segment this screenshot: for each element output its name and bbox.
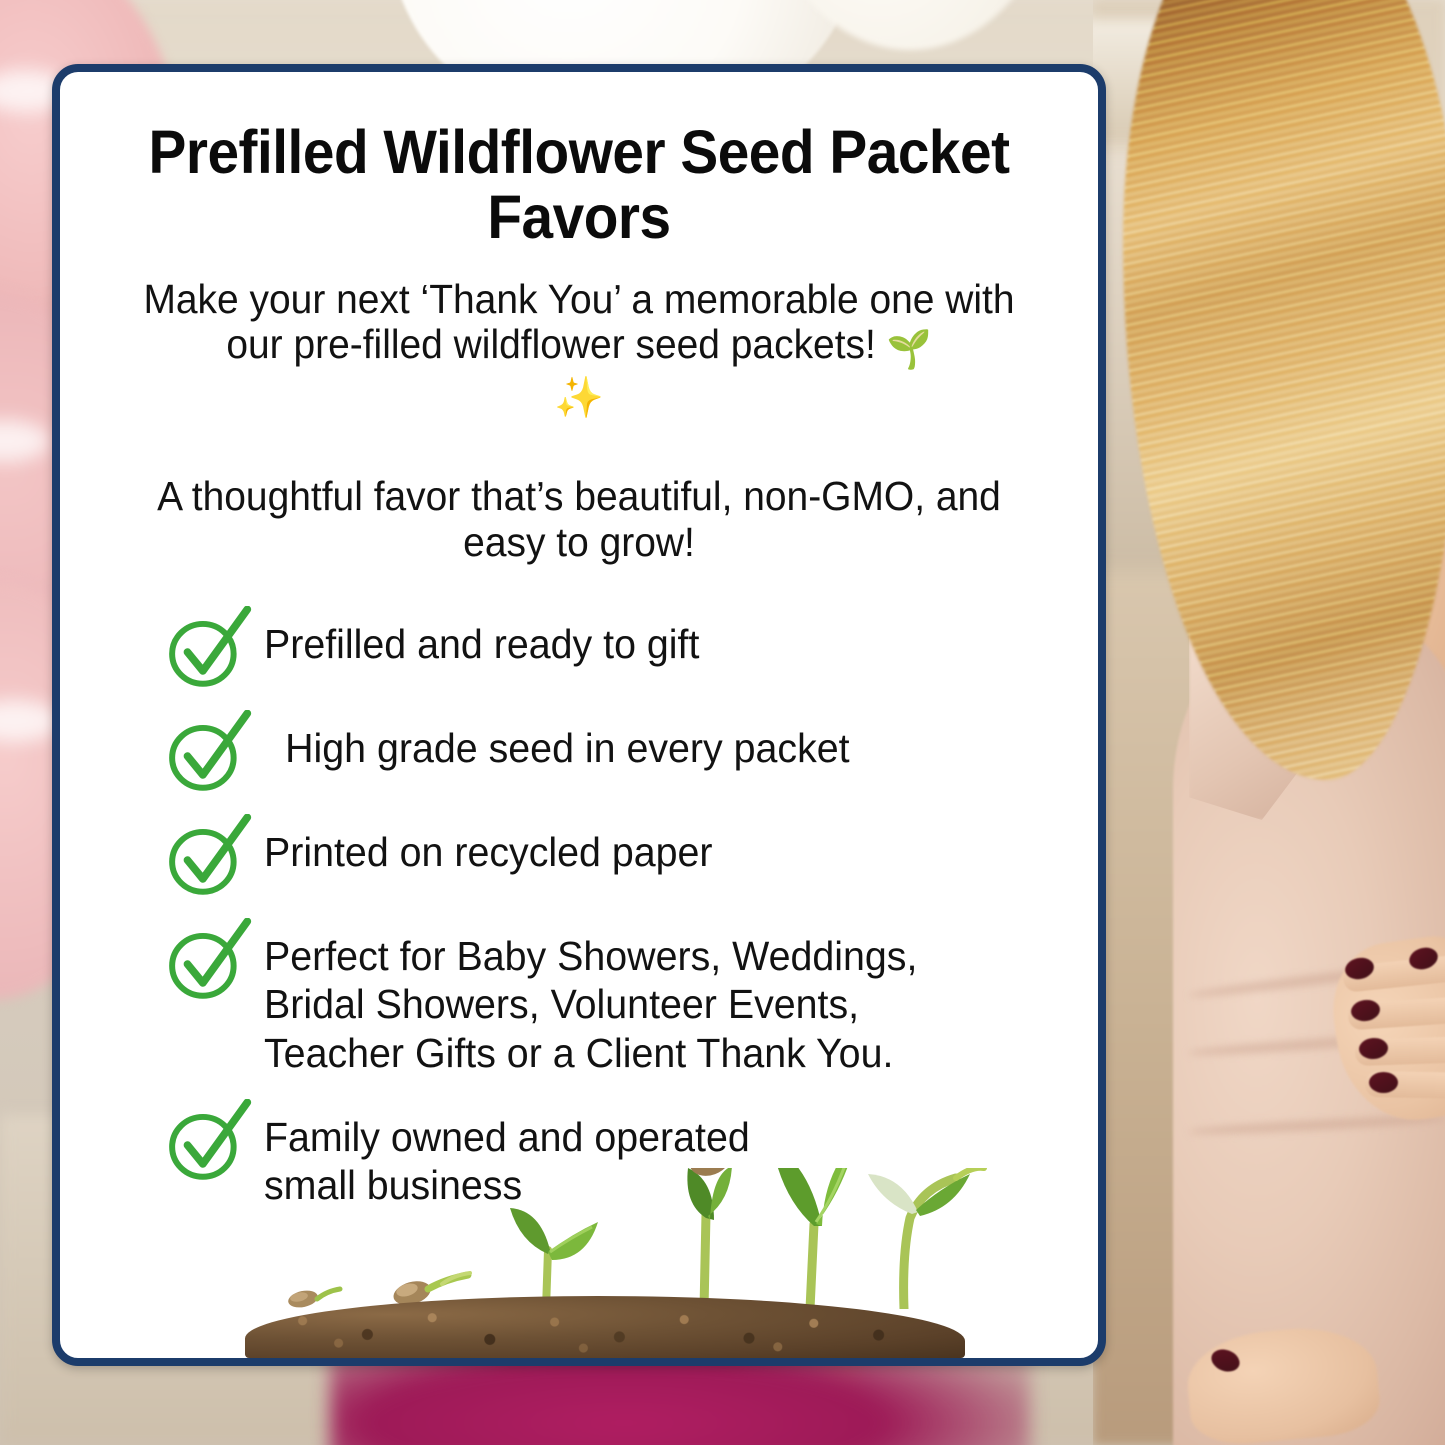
sprout-stage-1 [285, 1275, 345, 1314]
green-check-circle-icon [164, 606, 252, 688]
info-card: Prefilled Wildflower Seed Packet Favors … [52, 64, 1106, 1366]
green-check-circle-icon [164, 918, 252, 1000]
list-item-label: Perfect for Baby Showers, Weddings, Brid… [264, 924, 917, 1077]
subheading: A thoughtful favor that’s beautiful, non… [124, 474, 1034, 566]
list-item-label: Printed on recycled paper [264, 820, 713, 876]
list-item: High grade seed in every packet [164, 716, 1058, 792]
pregnant-woman-photo [1093, 0, 1445, 1445]
green-check-circle-icon [164, 814, 252, 896]
photo-fingernail [1369, 1072, 1398, 1093]
sparkles-icon: ✨ [100, 378, 1058, 418]
lead-paragraph: Make your next ‘Thank You’ a memorable o… [124, 277, 1034, 372]
sprout-stage-4 [660, 1168, 770, 1314]
sprout-stage-5 [760, 1168, 875, 1314]
lead-text: Make your next ‘Thank You’ a memorable o… [143, 276, 1014, 368]
feature-list: Prefilled and ready to gift High grade s… [100, 612, 1058, 1210]
sprout-stage-6 [860, 1168, 990, 1314]
list-item: Printed on recycled paper [164, 820, 1058, 896]
seedling-growth-photo [60, 1168, 1098, 1358]
list-item-label: High grade seed in every packet [264, 716, 850, 772]
seedling-icon: 🌱 [887, 329, 932, 371]
green-check-circle-icon [164, 710, 252, 792]
list-item: Prefilled and ready to gift [164, 612, 1058, 688]
page-title: Prefilled Wildflower Seed Packet Favors [134, 120, 1025, 251]
list-item-label: Prefilled and ready to gift [264, 612, 699, 668]
list-item: Perfect for Baby Showers, Weddings, Brid… [164, 924, 1058, 1077]
